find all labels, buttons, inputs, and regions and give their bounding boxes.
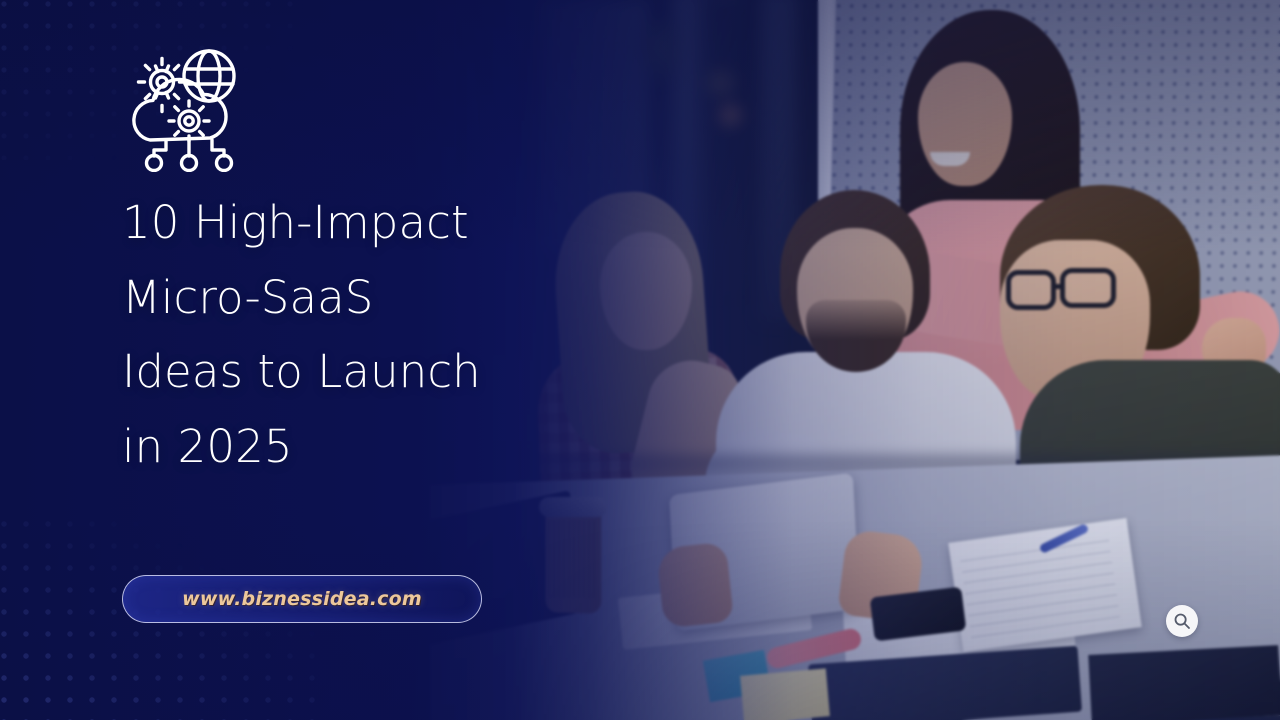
page-title: 10 High-Impact Micro-SaaS Ideas to Launc…: [122, 186, 552, 485]
search-icon: [1173, 612, 1191, 630]
search-button[interactable]: [1166, 605, 1198, 637]
website-url-badge[interactable]: www.biznessidea.com: [122, 575, 482, 623]
website-url-text: www.biznessidea.com: [182, 588, 422, 610]
blog-banner: 10 High-Impact Micro-SaaS Ideas to Launc…: [0, 0, 1280, 720]
cloud-gears-globe-network-icon: [122, 40, 252, 172]
